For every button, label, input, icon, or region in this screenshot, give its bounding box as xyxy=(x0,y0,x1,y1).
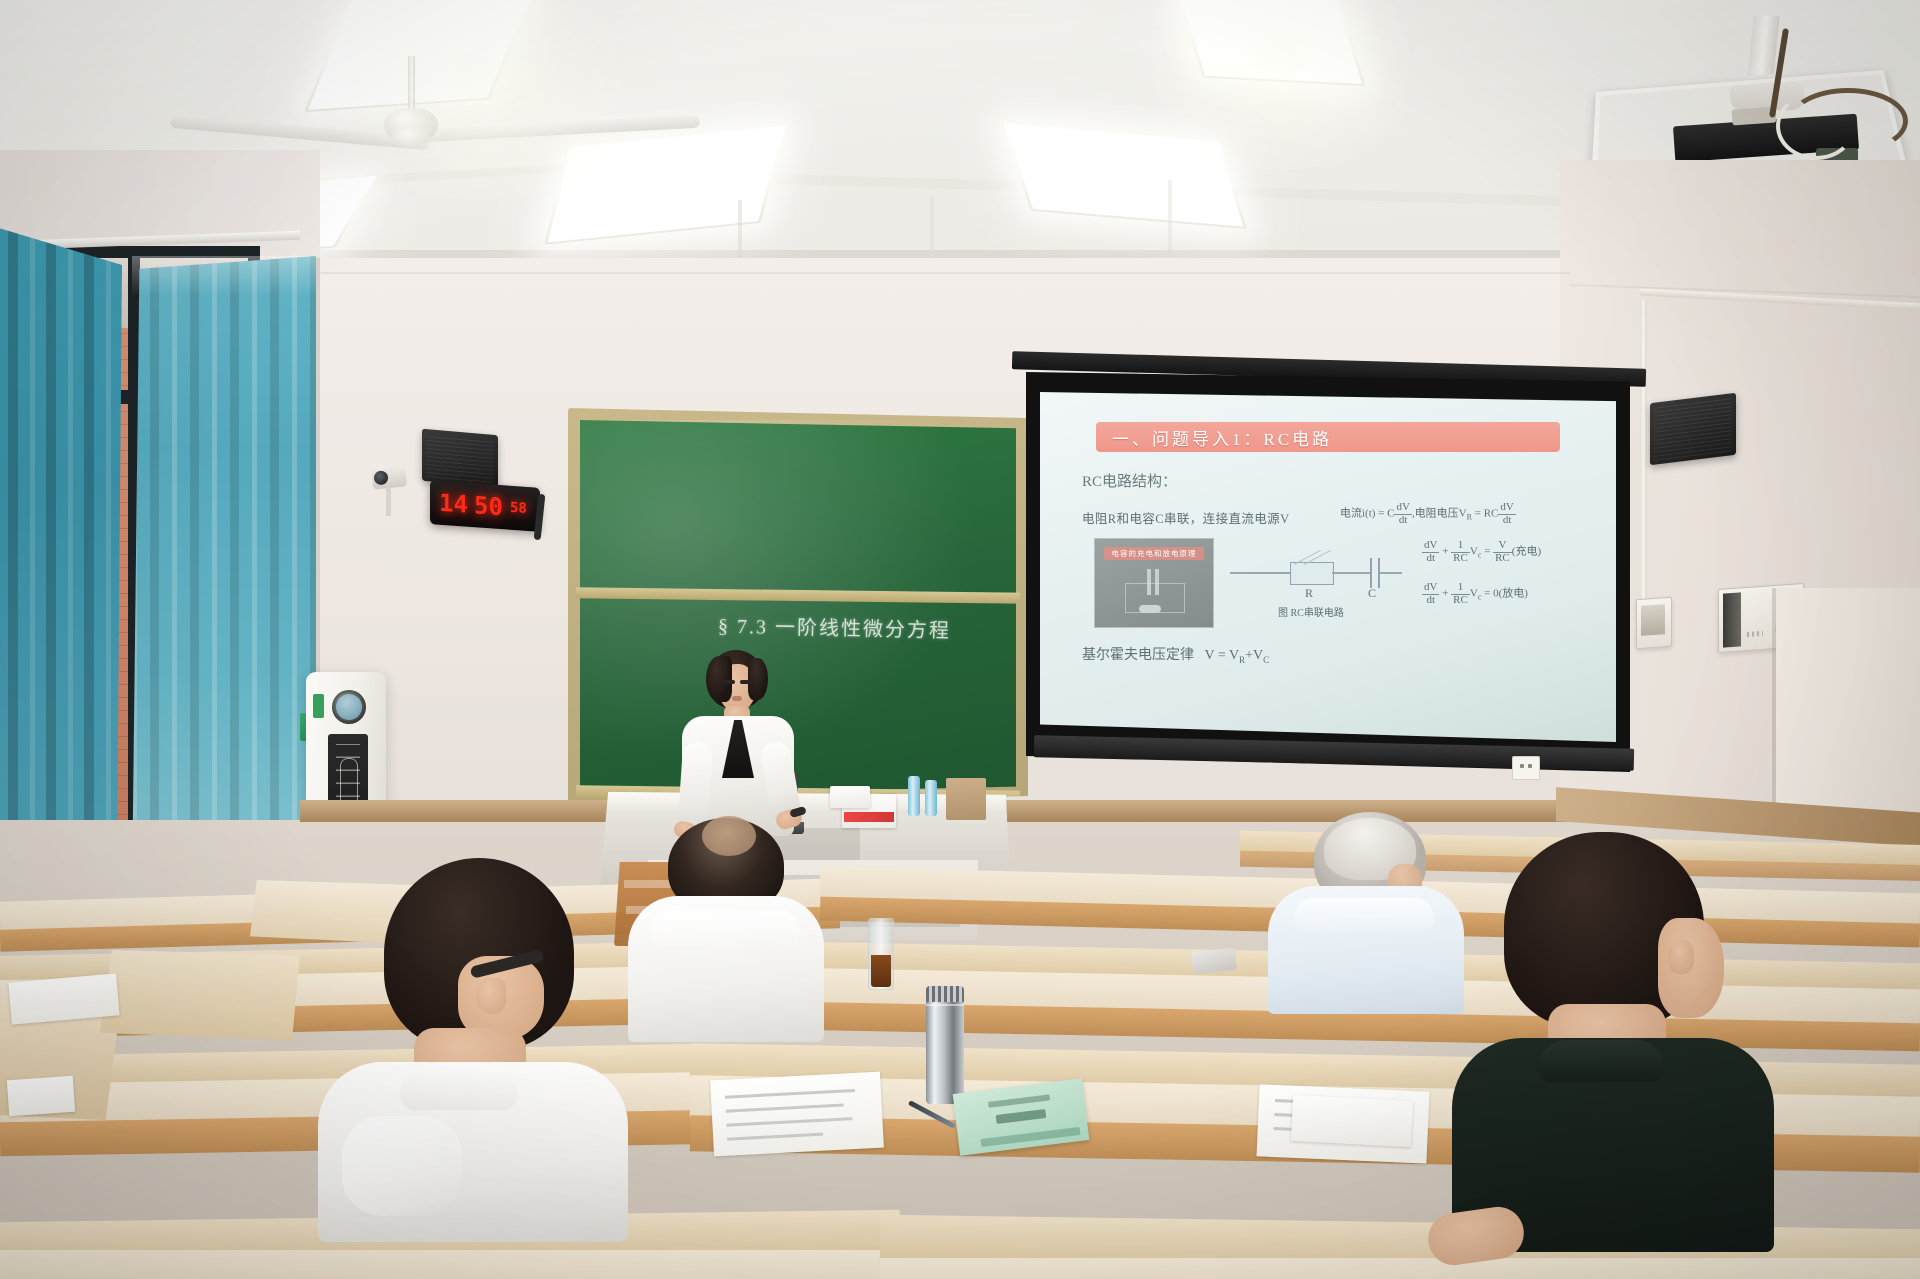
frac-numerator: dV xyxy=(1422,540,1439,553)
wall-moulding xyxy=(320,272,1570,274)
kvl-label: 基尔霍夫电压定律 xyxy=(1082,648,1194,663)
slide-title-text: 一、问题导入1：RC电路 xyxy=(1112,425,1332,450)
camera-mount xyxy=(386,486,391,516)
frac-numerator: V xyxy=(1493,540,1512,553)
charging-equation: dVdt + 1RCVc = VRC(充电) xyxy=(1422,540,1541,564)
ceiling-fan xyxy=(300,56,600,176)
ac-brand-tag xyxy=(313,694,324,718)
slide-body-line: 电阻R和电容C串联，连接直流电源V xyxy=(1082,508,1290,527)
slide-video-thumbnail[interactable]: 电容的充电和放电原理 xyxy=(1094,538,1214,628)
rc-circuit-diagram: R C 图 RC串联电路 xyxy=(1230,542,1400,612)
frac-denominator: RC xyxy=(1451,595,1470,607)
left-wall-speaker xyxy=(422,429,498,488)
steel-thermos xyxy=(926,986,964,1104)
kvl-plus: +V xyxy=(1245,648,1263,663)
discharging-equation: dVdt + 1RCVc = 0(放电) xyxy=(1422,582,1528,606)
video-caption: 电容的充电和放电原理 xyxy=(1104,547,1204,560)
seat-left xyxy=(100,950,300,1040)
paper-stack-left xyxy=(710,1072,884,1157)
slide-section-heading: RC电路结构： xyxy=(1082,470,1177,491)
observer-back-right xyxy=(1268,812,1468,1012)
current-eq-expr: i(t) = C xyxy=(1362,508,1394,520)
curtain-pleat-highlight xyxy=(132,256,316,296)
paper-sheet-near-left xyxy=(7,1076,75,1117)
frac-numerator: dV xyxy=(1422,582,1439,595)
eq-plus: + xyxy=(1442,588,1448,600)
v-over-rc-frac: VRC xyxy=(1493,540,1512,564)
kvl-line: 基尔霍夫电压定律 V = VR+VC xyxy=(1082,644,1269,665)
observer-mid-left xyxy=(620,818,830,1038)
eq-plus: + xyxy=(1442,546,1448,558)
resistor-eq-rhs: = RC xyxy=(1475,508,1499,520)
paper-pack xyxy=(830,786,870,808)
frac-numerator: 1 xyxy=(1451,582,1470,595)
dvdt-fraction: dVdt xyxy=(1394,502,1411,526)
paper-sheet-mid xyxy=(1291,1095,1413,1147)
curtain-right[interactable] xyxy=(132,256,316,896)
observer-front-left xyxy=(318,858,638,1238)
blackboard-chalk-text: § 7.3 一阶线性微分方程 xyxy=(718,610,952,644)
ceiling-light-panel xyxy=(1174,0,1365,86)
circuit-capacitor-label: C xyxy=(1368,586,1376,601)
slide-current-equation: 电流i(t) = CdVdt,电阻电压VR = RCdVdt xyxy=(1340,502,1516,526)
clock-seconds: 58 xyxy=(510,500,527,517)
wall-conduit xyxy=(1640,300,1647,600)
frac-denominator: dt xyxy=(1498,515,1515,527)
projection-screen: 一、问题导入1：RC电路 RC电路结构： 电阻R和电容C串联，连接直流电源V 电… xyxy=(1040,392,1616,742)
frac-denominator: RC xyxy=(1451,553,1470,565)
current-eq-label: 电流 xyxy=(1340,508,1362,520)
desk-row-nearest xyxy=(0,1250,920,1279)
water-bottle-2 xyxy=(925,780,937,816)
light-suspension-rod xyxy=(1168,180,1172,256)
kvl-sub-c: C xyxy=(1263,655,1269,665)
kvl-equation: V = V xyxy=(1205,648,1240,663)
frac-denominator: RC xyxy=(1493,553,1512,565)
wall-socket[interactable] xyxy=(1512,756,1540,780)
water-bottle xyxy=(908,776,920,816)
classroom-photo: § 7.3 一阶线性微分方程 一、问题导入1：RC电路 RC电路结构： 电阻R和… xyxy=(0,0,1920,1279)
clock-minutes: 50 xyxy=(474,491,503,521)
frac-denominator: dt xyxy=(1394,515,1411,527)
one-over-rc-frac: 1RC xyxy=(1451,540,1470,564)
charge-note: (充电) xyxy=(1512,546,1541,558)
polo-collar xyxy=(400,1064,518,1110)
frac-numerator: 1 xyxy=(1451,540,1470,553)
wall-panel-secondary[interactable] xyxy=(1636,597,1672,650)
clock-hours: 14 xyxy=(439,489,468,519)
cardboard-box xyxy=(946,778,986,820)
frac-denominator: dt xyxy=(1422,553,1439,565)
desk-row-nearest-right xyxy=(880,1258,1920,1279)
glass-tea-cup xyxy=(868,918,894,990)
dvc-dt-frac: dVdt xyxy=(1422,540,1439,564)
frac-denominator: dt xyxy=(1422,595,1439,607)
curtain-left[interactable] xyxy=(0,226,122,876)
frac-numerator: dV xyxy=(1394,502,1411,515)
discharge-rhs: = 0 xyxy=(1484,588,1498,600)
discharge-note: (放电) xyxy=(1499,588,1528,600)
one-over-rc-frac: 1RC xyxy=(1451,582,1470,606)
dvc-dt-frac: dVdt xyxy=(1422,582,1439,606)
polo-collar xyxy=(1538,1040,1664,1082)
circuit-resistor-label: R xyxy=(1305,586,1313,601)
resistor-eq-label: 电阻电压V xyxy=(1415,508,1467,520)
frac-numerator: dV xyxy=(1498,502,1515,515)
right-wall-speaker xyxy=(1650,393,1736,466)
led-wall-clock: 14 50 58 xyxy=(430,480,540,532)
circuit-caption: 图 RC串联电路 xyxy=(1278,604,1344,619)
mobile-phone xyxy=(1191,948,1237,974)
observer-front-right xyxy=(1452,832,1782,1252)
slide-title-bar: 一、问题导入1：RC电路 xyxy=(1096,422,1560,452)
dvdt-fraction-2: dVdt xyxy=(1498,502,1515,526)
